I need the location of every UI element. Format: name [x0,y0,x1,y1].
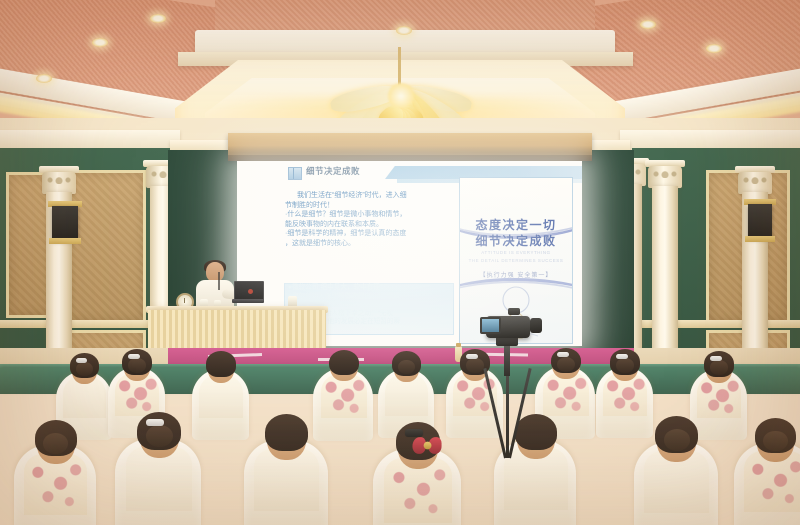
slide-body-line-2: 节制胜的时代！ [285,201,440,211]
hair-clip [466,354,478,359]
column-capital-6 [738,172,772,194]
video-camera-on-tripod[interactable] [478,318,538,458]
camera-lcd-screen[interactable] [480,317,501,334]
laptop-lid [234,281,264,301]
slide-note-line-1: ●微软公司“细中见大，软中有硬” [285,284,453,293]
presenter-laptop[interactable] [232,281,264,305]
tripod-leg-3 [506,372,509,458]
slide-body-line-3: ·什么是细节？细节是微小事物和情节， [285,210,440,220]
wall-speaker-left-bracket-bottom [49,238,81,244]
slide-body-line-4: 能反映事物的内在联系和本质。 [285,220,440,230]
poster-subtitle-1: ATTITUDE IS EVERYTHING [460,250,572,255]
poster-headline-1: 态度决定一切 [460,216,572,233]
hair-clip [616,354,628,359]
hair-clip [710,356,722,361]
person-hair-bun [43,433,68,454]
column-capital-5 [648,166,682,188]
wall-speaker-right-bracket-bottom [745,236,775,242]
column-capital-1 [42,172,76,194]
document-icon [288,167,302,180]
slide-note-line-2: ●海尔创始人张瑞敏首次提出：“小事成 [285,293,453,302]
hair-clip [405,429,423,437]
camera-lens [530,318,542,333]
hair-bow [412,437,441,454]
wall-speaker-right [748,204,772,238]
downlight-6 [36,74,52,83]
tripod-leg-1 [483,368,507,458]
crown-molding-right [620,130,800,150]
laptop-base [232,299,264,303]
bottle-cap [456,343,461,347]
slide-body-text: 我们生活在“细节经济”时代，进入细节制胜的时代！·什么是细节？细节是微小事物和情… [285,191,440,249]
conference-hall-photo: 细节决定成败 我们生活在“细节经济”时代，进入细节制胜的时代！·什么是细节？细节… [0,0,800,525]
wall-speaker-left [52,206,78,240]
person-hair-bun [763,431,788,452]
presenter-head [206,262,224,282]
tripod-center-column [504,342,510,376]
hair-clip [557,352,569,357]
hair-bow-knot [423,441,431,449]
crown-molding-left [0,130,180,150]
downlight-5 [706,44,722,53]
laptop-logo [248,289,253,294]
poster-badge: 【执行力强 安全第一】 [460,270,572,279]
hair-clip [128,354,140,359]
person-hair-bun [557,357,575,372]
column-5 [652,186,678,348]
downlight-1 [92,38,108,47]
hair-clip [76,358,88,363]
downlight-2 [150,14,166,23]
slide-body-line-6: ，这就是细节的核心。 [285,239,440,249]
camera-body [486,316,530,338]
slide-body-line-1: 我们生活在“细节经济”时代，进入细 [285,191,440,201]
wall-rail-left [0,320,158,328]
slide-title: 细节决定成败 [306,165,360,177]
chandelier-stem [398,47,401,87]
downlight-4 [640,20,656,29]
slide-body-line-5: ·细节是科学的精神，细节是认真的态度 [285,229,440,239]
poster-subtitle-2: THE DETAIL DETERMINES SUCCESS [460,258,572,263]
person-hair-bun [664,429,690,451]
tripod-leg-2 [508,368,532,458]
downlight-3 [396,26,412,35]
camera-microphone [508,308,520,315]
person-hair-bun [146,425,172,447]
person-hair [329,350,359,376]
person-hair [265,414,308,451]
poster-headline-2: 细节决定成败 [460,232,572,249]
person-hair [206,351,236,376]
microphone-stand [218,272,220,290]
hair-clip [146,419,164,427]
chandelier-core-light [388,83,414,109]
